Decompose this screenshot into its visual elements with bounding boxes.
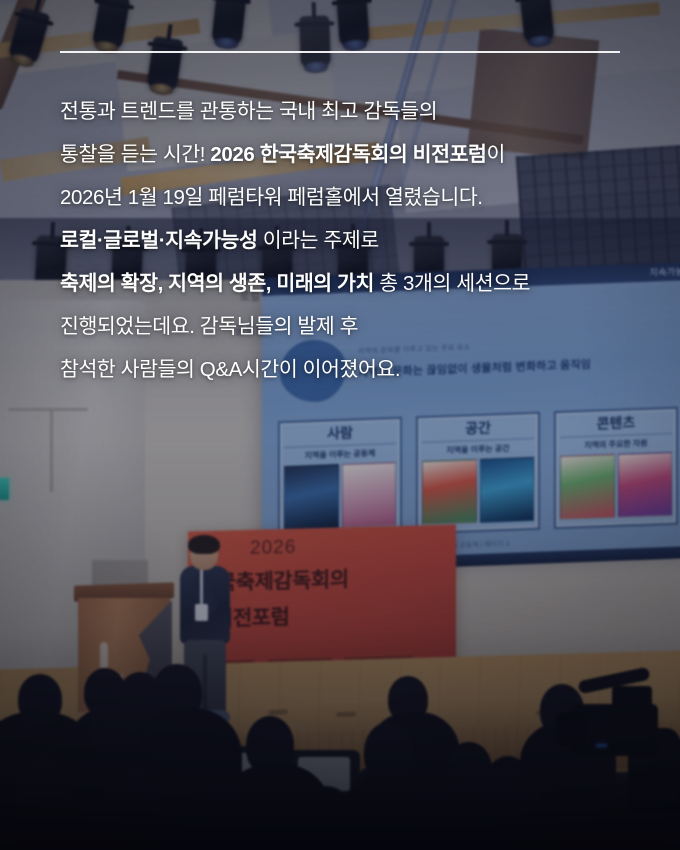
stage-light-fixture: [299, 15, 331, 68]
line-2: 통찰을 듣는 시간! 2026 한국축제감독회의 비전포럼이: [60, 133, 670, 176]
slide-card-title: 공간: [422, 419, 534, 438]
caption-emphasis: 로컬·글로벌·지속가능성: [60, 229, 257, 252]
slide-card-title: 사람: [284, 424, 396, 443]
camera-lens: [556, 712, 586, 746]
caption-text: 이라는 주제로: [257, 229, 378, 252]
poster-thumb: [480, 457, 535, 523]
caption-emphasis: 축제의 확장, 지역의 생존, 미래의 가치: [60, 272, 374, 295]
wall-pipe: [8, 408, 88, 411]
slide-card-row: 사람 지역을 이루는 공동체 공간 지역을 이루는 공간: [278, 407, 678, 540]
stage-light-fixture: [519, 0, 554, 43]
poster-thumb: [284, 464, 339, 530]
caption-emphasis: 2026 한국축제감독회의 비전포럼: [210, 143, 486, 166]
caption-text: 진행되었는데요. 감독님들의 발제 후: [60, 315, 358, 338]
wall-pipe: [50, 410, 53, 492]
poster-thumb: [560, 454, 615, 520]
line-1: 전통과 트렌드를 관통하는 국내 최고 감독들의: [60, 90, 670, 133]
slide-card-title: 콘텐츠: [560, 414, 672, 433]
banner-year: 2026: [250, 537, 296, 560]
audience-head: [18, 674, 62, 724]
exit-sign-icon: [0, 478, 9, 500]
speaker-badge: [195, 604, 208, 621]
promo-card: 지속가능 지역의 문화를 이루고 있는 주요 요소 지역의 문화는 끊임없이 생…: [0, 0, 680, 850]
line-6: 진행되었는데요. 감독님들의 발제 후: [60, 305, 670, 348]
poster-thumb: [342, 462, 397, 528]
caption-text: 2026년 1월 19일 페럼타워 페럼홀에서 열렸습니다.: [60, 186, 483, 209]
slide-card: 콘텐츠 지역의 주요한 자원: [554, 407, 678, 530]
caption-text: 총 3개의 세션으로: [374, 272, 530, 295]
stage-light-fixture: [336, 0, 370, 47]
poster-thumb: [618, 452, 673, 518]
video-camera-rig: [556, 672, 676, 812]
caption-text: 참석한 사람들의 Q&A시간이 이어졌어요.: [60, 358, 400, 381]
slide-card-subtitle: 지역을 이루는 공간: [422, 438, 534, 457]
line-5: 축제의 확장, 지역의 생존, 미래의 가치 총 3개의 세션으로: [60, 262, 670, 305]
caption-text: 통찰을 듣는 시간!: [60, 143, 210, 166]
speaker-hair: [188, 535, 220, 554]
line-7: 참석한 사람들의 Q&A시간이 이어졌어요.: [60, 348, 670, 391]
slide-card-subtitle: 지역을 이루는 공동체: [284, 443, 396, 462]
caption-text: 전통과 트렌드를 관통하는 국내 최고 감독들의: [60, 100, 437, 123]
speaker-lanyard: [200, 570, 203, 606]
slide-card-posters: [560, 452, 672, 520]
slide-card: 공간 지역을 이루는 공간: [416, 412, 540, 535]
line-3: 2026년 1월 19일 페럼타워 페럼홀에서 열렸습니다.: [60, 176, 670, 219]
poster-thumb: [422, 459, 477, 525]
slide-card: 사람 지역을 이루는 공동체: [278, 417, 402, 540]
caption-text-block: 전통과 트렌드를 관통하는 국내 최고 감독들의통찰을 듣는 시간! 2026 …: [60, 90, 670, 391]
slide-card-posters: [422, 457, 534, 525]
slide-card-subtitle: 지역의 주요한 자원: [560, 433, 672, 452]
top-divider-rule: [60, 51, 620, 53]
stage-light-fixture: [211, 0, 246, 45]
caption-text: 이: [487, 143, 505, 166]
slide-card-posters: [284, 462, 396, 530]
line-4: 로컬·글로벌·지속가능성 이라는 주제로: [60, 219, 670, 262]
camera-viewfinder: [612, 686, 652, 708]
camera-record-led: [596, 744, 607, 747]
